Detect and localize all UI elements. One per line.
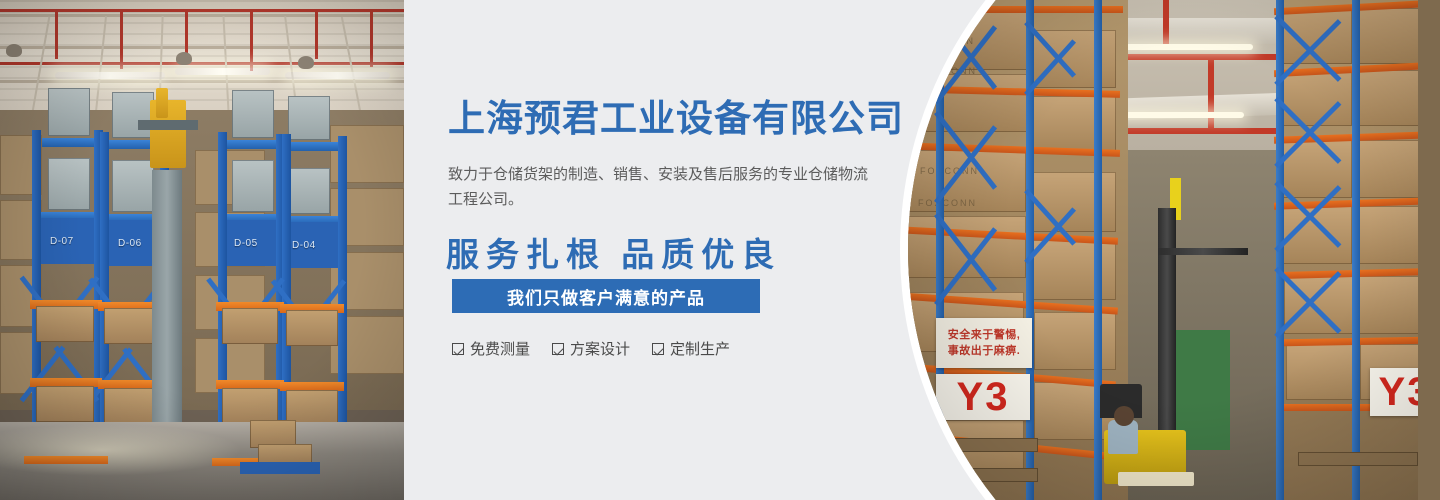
- rack-label-d04: D-04: [292, 240, 316, 251]
- forklift-mast: [1158, 208, 1176, 458]
- checkbox-checked-icon: [552, 343, 564, 355]
- company-description: 致力于仓储货架的制造、销售、安装及售后服务的专业仓储物流工程公司。: [448, 163, 868, 213]
- hero-banner: D-07 D-06 D-05 D-04: [0, 0, 1440, 500]
- carton-brand-text: FOXCONN: [920, 166, 979, 176]
- aisle-label-sign-right: Y3: [1370, 368, 1418, 416]
- checkbox-checked-icon: [452, 343, 464, 355]
- feature-item-custom-production: 定制生产: [652, 338, 730, 359]
- left-photo-scene: D-07 D-06 D-05 D-04: [0, 0, 404, 500]
- right-warehouse-photo-wrap: FOXCONN FOXCONN FOXCONN FOXCONN: [930, 0, 1440, 500]
- feature-list: 免费测量 方案设计 定制生产: [452, 338, 730, 359]
- feature-label: 定制生产: [670, 338, 730, 359]
- feature-item-solution-design: 方案设计: [552, 338, 630, 359]
- page-title: 上海预君工业设备有限公司: [448, 99, 904, 140]
- safety-sign-line-1: 安全来于警惕,: [948, 327, 1021, 344]
- right-warehouse-photo: FOXCONN FOXCONN FOXCONN FOXCONN: [908, 0, 1440, 500]
- safety-sign-line-2: 事故出于麻痹.: [948, 343, 1021, 360]
- feature-item-free-measure: 免费测量: [452, 338, 530, 359]
- carton-brand-text: FOXCONN: [918, 198, 977, 208]
- slogan: 服务扎根 品质优良: [446, 228, 781, 276]
- left-warehouse-photo: D-07 D-06 D-05 D-04: [0, 0, 404, 500]
- checkbox-checked-icon: [652, 343, 664, 355]
- rack-label-d05: D-05: [234, 238, 258, 249]
- rack-label-d06: D-06: [118, 238, 142, 249]
- rack-label-d07: D-07: [50, 236, 74, 247]
- cta-button[interactable]: 我们只做客户满意的产品: [452, 279, 760, 313]
- carton-brand-text: FOXCONN: [918, 66, 977, 76]
- aisle-label-sign-left: Y3: [936, 374, 1030, 420]
- carton-brand-text: FOXCONN: [916, 36, 975, 46]
- right-photo-scene: FOXCONN FOXCONN FOXCONN FOXCONN: [908, 0, 1418, 500]
- feature-label: 免费测量: [470, 338, 530, 359]
- feature-label: 方案设计: [570, 338, 630, 359]
- safety-sign: 安全来于警惕, 事故出于麻痹.: [936, 318, 1032, 368]
- stacker-crane: [152, 170, 182, 440]
